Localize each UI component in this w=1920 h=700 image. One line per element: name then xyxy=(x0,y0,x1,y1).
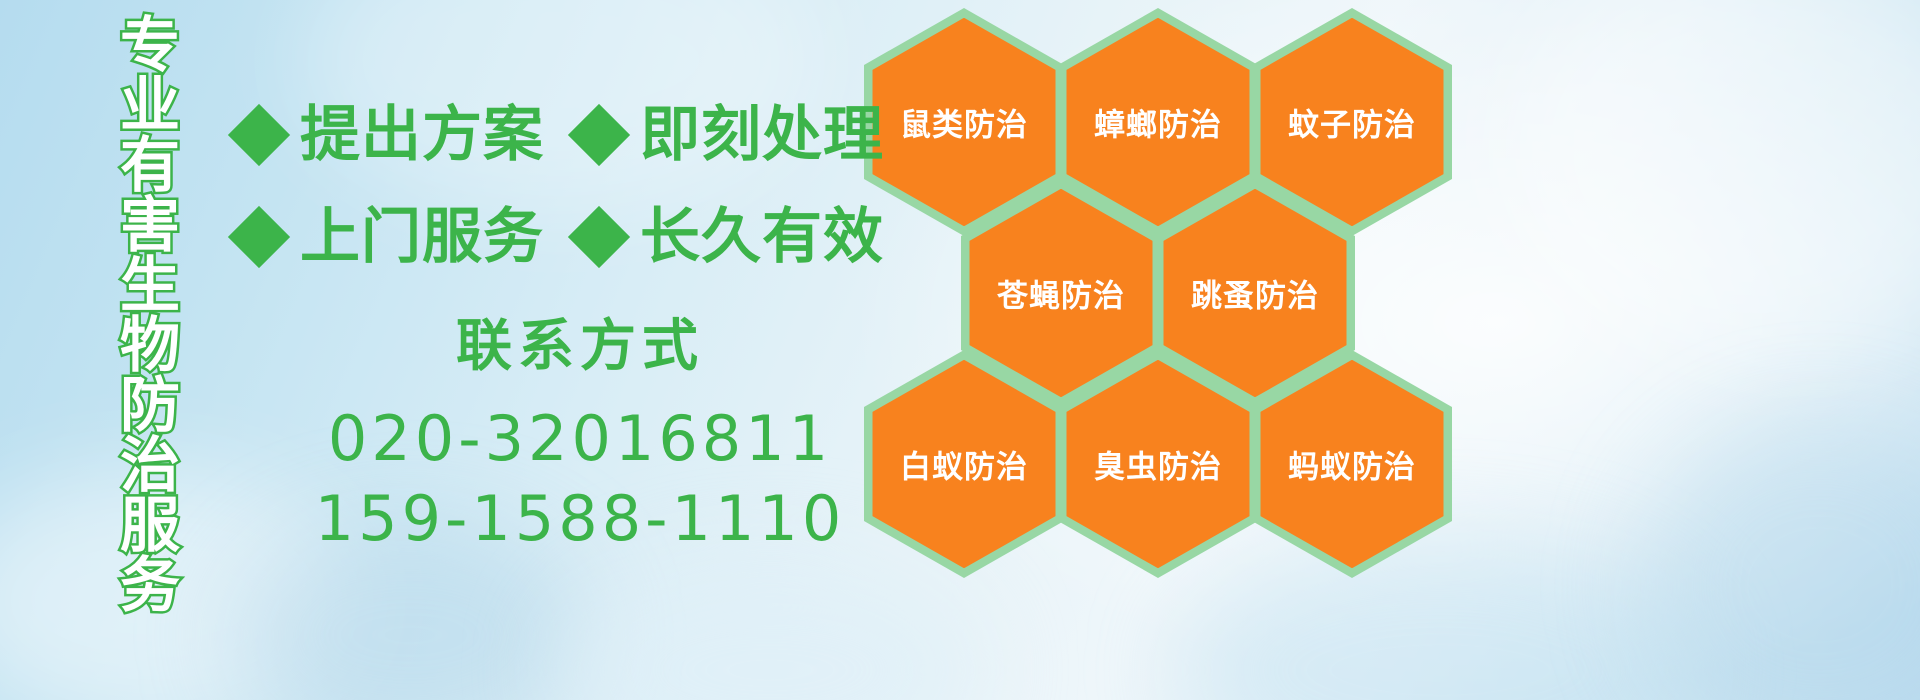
feature-label: 提出方案 xyxy=(300,105,544,165)
service-hex-label: 苍蝇防治 xyxy=(961,271,1161,316)
vertical-headline-char: 害 xyxy=(120,196,180,256)
feature-row: 提出方案 即刻处理 xyxy=(228,84,868,186)
diamond-icon xyxy=(228,206,290,268)
background-blur-shape xyxy=(1500,0,1920,360)
vertical-headline-char: 务 xyxy=(120,556,180,616)
service-hex-label: 跳蚤防治 xyxy=(1155,271,1355,316)
contact-phone-mobile[interactable]: 159-1588-1110 xyxy=(300,479,860,560)
service-hex-label: 鼠类防治 xyxy=(864,100,1064,145)
contact-phone-landline[interactable]: 020-32016811 xyxy=(300,399,860,480)
vertical-headline-char: 治 xyxy=(120,436,180,496)
feature-label: 上门服务 xyxy=(300,207,544,267)
vertical-headline: 专 业 有 害 生 物 防 治 服 务 xyxy=(104,16,196,568)
vertical-headline-char: 防 xyxy=(120,376,180,436)
service-hex-label: 臭虫防治 xyxy=(1058,442,1258,487)
contact-heading: 联系方式 xyxy=(300,318,860,377)
service-hex-label: 蚊子防治 xyxy=(1252,100,1452,145)
service-hex-bedbug[interactable]: 臭虫防治 xyxy=(1058,350,1258,578)
vertical-headline-char: 业 xyxy=(120,76,180,136)
diamond-icon xyxy=(568,206,630,268)
background-blur-shape xyxy=(1640,420,1920,700)
vertical-headline-char: 服 xyxy=(120,496,180,556)
background-blur-shape xyxy=(560,560,980,700)
service-hex-termite[interactable]: 白蚁防治 xyxy=(864,350,1064,578)
service-honeycomb-grid: 鼠类防治 蟑螂防治 蚊子防治 苍蝇防治 跳蚤防治 白蚁防治 xyxy=(860,0,1480,570)
pest-control-service-banner: 专 业 有 害 生 物 防 治 服 务 提出方案 即刻处理 上门服务 长久有效 … xyxy=(0,0,1920,700)
vertical-headline-char: 有 xyxy=(120,136,180,196)
feature-row: 上门服务 长久有效 xyxy=(228,186,868,288)
feature-list: 提出方案 即刻处理 上门服务 长久有效 xyxy=(228,84,868,288)
diamond-icon xyxy=(228,104,290,166)
diamond-icon xyxy=(568,104,630,166)
feature-label: 即刻处理 xyxy=(640,105,884,165)
vertical-headline-char: 专 xyxy=(120,16,180,76)
service-hex-label: 蟑螂防治 xyxy=(1058,100,1258,145)
vertical-headline-char: 物 xyxy=(120,316,180,376)
vertical-headline-char: 生 xyxy=(120,256,180,316)
service-hex-ant[interactable]: 蚂蚁防治 xyxy=(1252,350,1452,578)
feature-label: 长久有效 xyxy=(640,207,884,267)
service-hex-label: 蚂蚁防治 xyxy=(1252,442,1452,487)
service-hex-label: 白蚁防治 xyxy=(864,442,1064,487)
contact-block: 联系方式 020-32016811 159-1588-1110 xyxy=(300,318,860,560)
